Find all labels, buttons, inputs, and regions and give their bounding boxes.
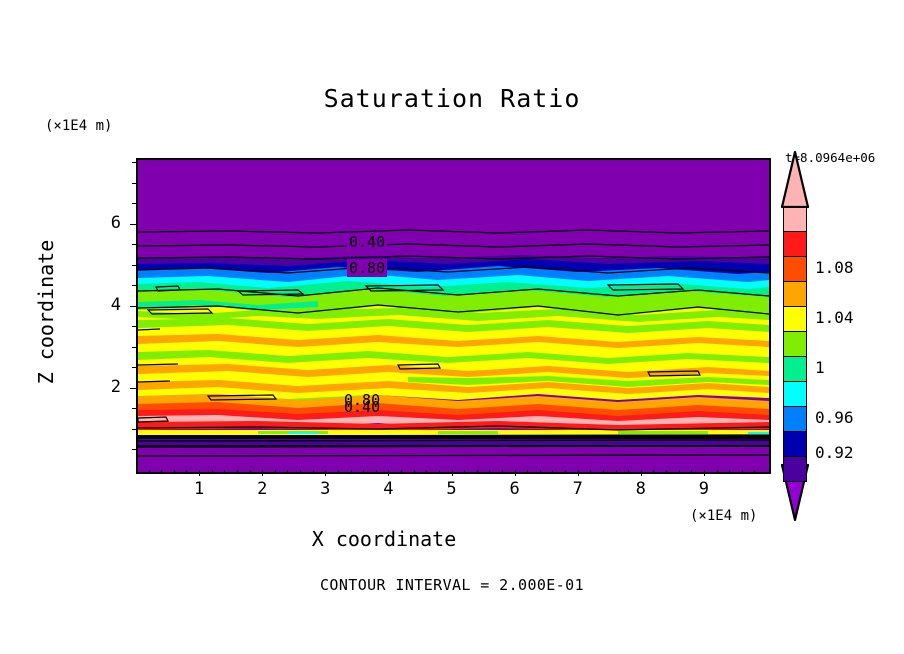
x-tick-minor [376, 470, 377, 474]
x-tick-minor [174, 470, 175, 474]
x-tick-label-5: 5 [437, 479, 467, 499]
colorbar-label-3: 0.96 [815, 408, 854, 427]
colorbar-label-4: 0.92 [815, 443, 854, 462]
colorbar-segment-6 [783, 357, 807, 382]
y-tick-minor [132, 449, 136, 450]
x-tick-major-8 [641, 470, 642, 476]
x-tick-minor [679, 470, 680, 474]
x-tick-minor [616, 470, 617, 474]
x-tick-minor [275, 470, 276, 474]
x-tick-minor [287, 470, 288, 474]
y-tick-major-2 [130, 388, 136, 389]
colorbar-segment-7 [783, 382, 807, 407]
y-tick-minor [132, 162, 136, 163]
page-title: Saturation Ratio [0, 84, 904, 113]
x-tick-minor [565, 470, 566, 474]
x-tick-minor [729, 470, 730, 474]
x-tick-label-9: 9 [689, 479, 719, 499]
x-tick-minor [742, 470, 743, 474]
x-tick-minor [426, 470, 427, 474]
x-tick-minor [653, 470, 654, 474]
x-tick-major-2 [262, 470, 263, 476]
x-tick-label-7: 7 [563, 479, 593, 499]
contour-field [138, 160, 769, 472]
y-tick-minor [132, 203, 136, 204]
x-tick-minor [313, 470, 314, 474]
x-axis-unit-label: (×1E4 m) [690, 508, 757, 524]
colorbar-label-1: 1.04 [815, 308, 854, 327]
colorbar-segment-5 [783, 332, 807, 357]
y-tick-minor [132, 285, 136, 286]
y-tick-minor [132, 367, 136, 368]
x-tick-minor [464, 470, 465, 474]
colorbar-segment-9 [783, 432, 807, 457]
x-tick-major-7 [578, 470, 579, 476]
x-tick-minor [666, 470, 667, 474]
x-tick-minor [439, 470, 440, 474]
contour-plot-area: 0.40 0.80 0.80 0.40 [136, 158, 771, 474]
x-tick-major-1 [199, 470, 200, 476]
x-tick-minor [540, 470, 541, 474]
contour-interval-caption: CONTOUR INTERVAL = 2.000E-01 [0, 576, 904, 594]
y-axis-title: Z coordinate [34, 222, 58, 402]
y-tick-major-6 [130, 224, 136, 225]
y-tick-label-4: 4 [99, 295, 121, 315]
x-tick-label-3: 3 [310, 479, 340, 499]
x-tick-minor [212, 470, 213, 474]
x-tick-minor [754, 470, 755, 474]
y-tick-label-6: 6 [99, 213, 121, 233]
x-tick-label-6: 6 [500, 479, 530, 499]
x-tick-major-9 [704, 470, 705, 476]
y-tick-minor [132, 326, 136, 327]
colorbar-segment-4 [783, 307, 807, 332]
x-tick-minor [338, 470, 339, 474]
x-tick-minor [489, 470, 490, 474]
y-tick-minor [132, 429, 136, 430]
y-tick-minor [132, 408, 136, 409]
x-tick-minor [149, 470, 150, 474]
x-tick-minor [717, 470, 718, 474]
x-tick-label-1: 1 [184, 479, 214, 499]
x-axis-title: X coordinate [0, 527, 768, 551]
colorbar-segment-0 [783, 207, 807, 232]
x-tick-major-3 [325, 470, 326, 476]
x-tick-minor [527, 470, 528, 474]
x-tick-major-4 [388, 470, 389, 476]
x-tick-label-4: 4 [373, 479, 403, 499]
x-tick-minor [300, 470, 301, 474]
x-tick-minor [502, 470, 503, 474]
colorbar-label-2: 1 [815, 358, 825, 377]
contour-label-040-upper: 0.40 [347, 233, 387, 251]
colorbar-segment-1 [783, 232, 807, 257]
x-tick-minor [186, 470, 187, 474]
x-tick-minor [603, 470, 604, 474]
x-tick-major-5 [452, 470, 453, 476]
contour-label-040-lower: 0.40 [344, 398, 380, 416]
colorbar-segment-3 [783, 282, 807, 307]
x-tick-minor [628, 470, 629, 474]
x-tick-minor [161, 470, 162, 474]
x-tick-minor [552, 470, 553, 474]
x-tick-minor [691, 470, 692, 474]
x-tick-major-6 [515, 470, 516, 476]
colorbar-segment-8 [783, 407, 807, 432]
x-tick-minor [237, 470, 238, 474]
x-tick-minor [363, 470, 364, 474]
x-tick-minor [351, 470, 352, 474]
contour-label-080-upper: 0.80 [347, 259, 387, 277]
x-tick-minor [401, 470, 402, 474]
y-tick-minor [132, 265, 136, 266]
colorbar-label-0: 1.08 [815, 258, 854, 277]
colorbar [783, 207, 807, 482]
x-tick-minor [250, 470, 251, 474]
y-tick-minor [132, 183, 136, 184]
x-tick-label-2: 2 [247, 479, 277, 499]
y-tick-label-2: 2 [99, 377, 121, 397]
y-tick-minor [132, 244, 136, 245]
x-tick-minor [414, 470, 415, 474]
colorbar-segment-2 [783, 257, 807, 282]
colorbar-segment-10 [783, 457, 807, 482]
x-tick-minor [590, 470, 591, 474]
x-tick-label-8: 8 [626, 479, 656, 499]
y-tick-major-4 [130, 306, 136, 307]
x-tick-minor [224, 470, 225, 474]
y-tick-minor [132, 347, 136, 348]
x-tick-minor [477, 470, 478, 474]
y-axis-unit-label: (×1E4 m) [45, 118, 112, 134]
